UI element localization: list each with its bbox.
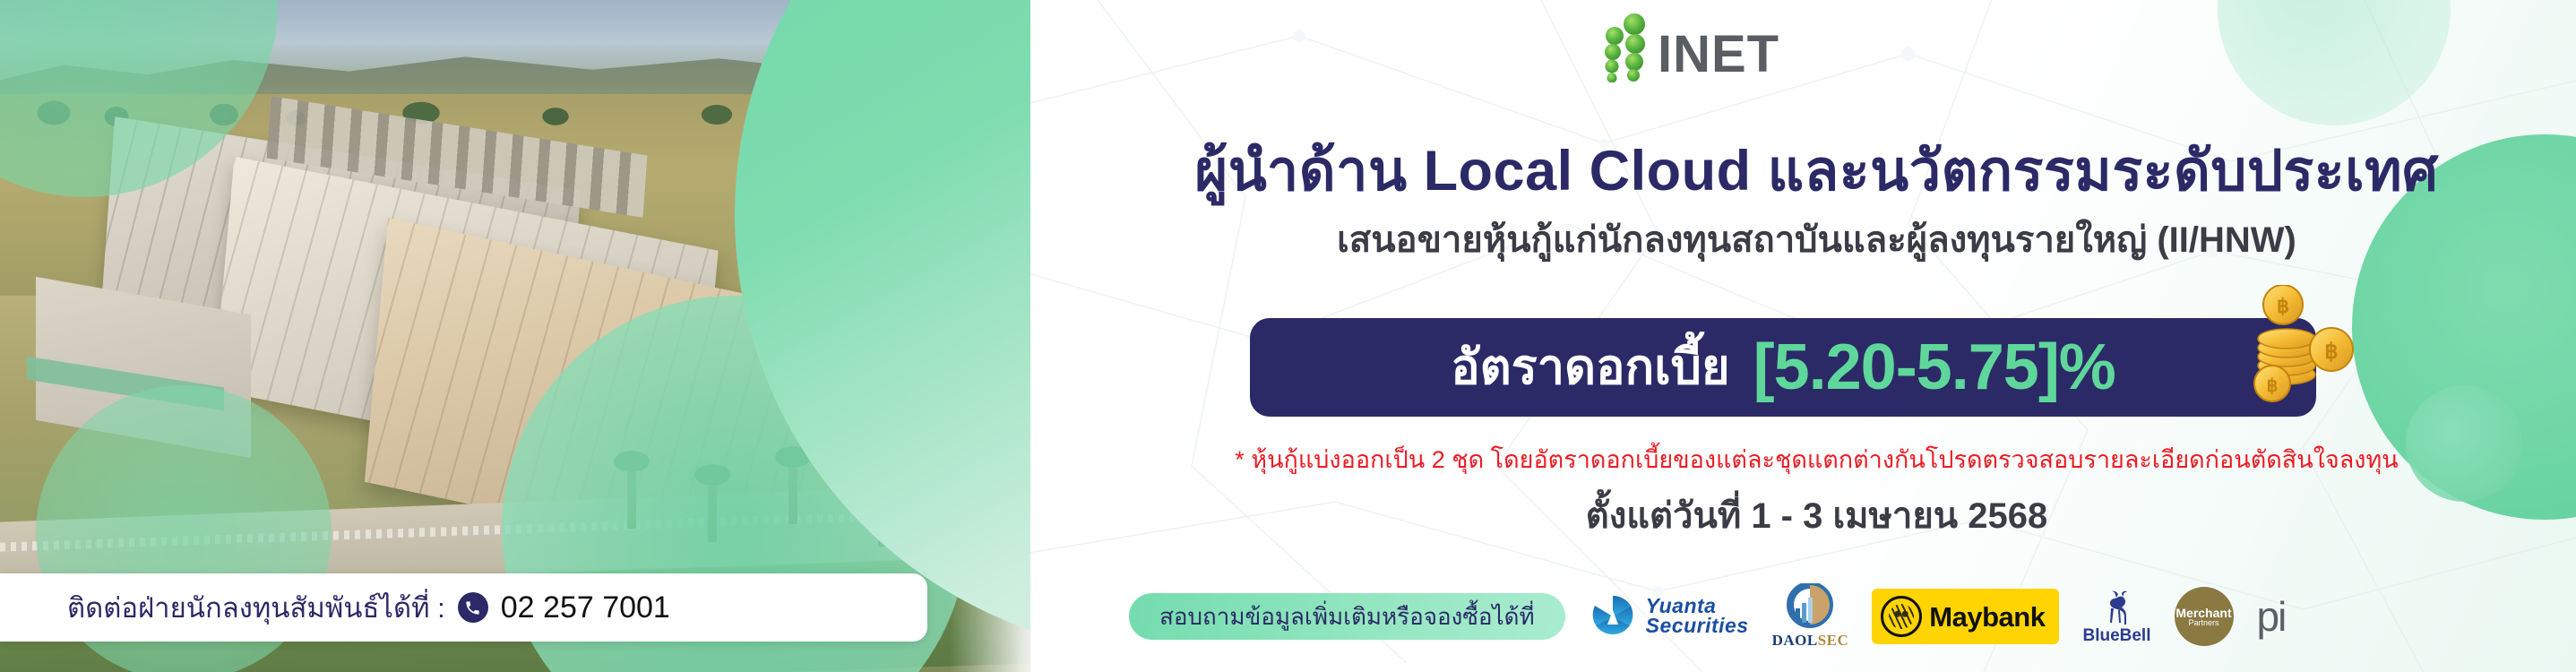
- investor-relations-contact: ติดต่อฝ่ายนักลงทุนสัมพันธ์ได้ที่ : 02 25…: [0, 573, 927, 642]
- daol-wordmark: DAOLSEC: [1772, 632, 1849, 650]
- interest-rate-value: [5.20-5.75]%: [1753, 335, 2115, 400]
- cta-and-partners-row: สอบถามข้อมูลเพิ่มเติมหรือจองซื้อได้ที่: [1129, 581, 2563, 652]
- inet-dots-icon: [1595, 13, 1652, 82]
- photo-palm-tree: [878, 484, 887, 547]
- disclaimer-text: * หุ้นกู้แบ่งออกเป็น 2 ชุด โดยอัตราดอกเบ…: [1057, 448, 2576, 472]
- contact-label: ติดต่อฝ่ายนักลงทุนสัมพันธ์ได้ที่ :: [67, 594, 445, 622]
- partner-logo-daol[interactable]: DAOLSEC: [1772, 583, 1849, 650]
- yuanta-line2: Securities: [1646, 616, 1749, 636]
- interest-rate-box: อัตราดอกเบี้ย [5.20-5.75]%: [1250, 318, 2316, 417]
- merchant-circle-icon: Merchant Partners: [2175, 587, 2234, 646]
- promotional-banner: INET ผู้นำด้าน Local Cloud และนวัตกรรมระ…: [0, 0, 2576, 672]
- banner-content: INET ผู้นำด้าน Local Cloud และนวัตกรรมระ…: [1057, 0, 2576, 672]
- maybank-wordmark: Maybank: [1929, 603, 2045, 631]
- yuanta-star-icon: [1589, 592, 1637, 641]
- inet-logo[interactable]: INET: [1595, 13, 1779, 82]
- phone-icon: [458, 592, 488, 623]
- photo-palm-tree: [788, 461, 797, 524]
- partner-logo-merchant-partners[interactable]: Merchant Partners: [2175, 587, 2234, 646]
- inet-logo-text: INET: [1658, 29, 1779, 81]
- svg-text:฿: ฿: [2324, 340, 2338, 364]
- merchant-line1: Merchant: [2175, 607, 2231, 619]
- photo-palm-tree: [627, 466, 636, 529]
- offer-dates: ตั้งแต่วันที่ 1 - 3 เมษายน 2568: [1057, 498, 2576, 534]
- daol-text-main: DAOL: [1772, 632, 1818, 649]
- partner-logo-pi[interactable]: pi: [2257, 596, 2286, 637]
- maybank-tiger-icon: [1881, 596, 1922, 637]
- interest-rate-label: อัตราดอกเบี้ย: [1451, 343, 1729, 392]
- merchant-line2: Partners: [2188, 619, 2218, 627]
- yuanta-wordmark: Yuanta Securities: [1646, 597, 1749, 636]
- svg-text:฿: ฿: [2267, 376, 2279, 396]
- contact-cta-button[interactable]: สอบถามข้อมูลเพิ่มเติมหรือจองซื้อได้ที่: [1129, 593, 1565, 640]
- partner-logo-bluebell[interactable]: BlueBell: [2082, 589, 2150, 644]
- datacenter-photo: [0, 0, 1057, 672]
- partner-logo-yuanta[interactable]: Yuanta Securities: [1589, 592, 1749, 641]
- phone-glyph: [464, 599, 481, 616]
- contact-phone-number: 02 257 7001: [501, 592, 670, 623]
- gold-coins-icon: ฿ ฿ ฿: [2231, 285, 2365, 410]
- page-subtitle: เสนอขายหุ้นกู้แก่นักลงทุนสถาบันและผู้ลงท…: [1057, 222, 2576, 258]
- photo-palm-tree: [708, 479, 717, 542]
- daol-circle-icon: [1785, 583, 1835, 630]
- bluebell-deer-icon: [2098, 589, 2134, 626]
- pi-logo-icon: pi: [2257, 596, 2286, 637]
- page-title: ผู้นำด้าน Local Cloud และนวัตกรรมระดับปร…: [1057, 143, 2576, 200]
- partner-logo-maybank[interactable]: Maybank: [1872, 589, 2059, 644]
- daol-text-sub: SEC: [1818, 632, 1849, 649]
- svg-text:฿: ฿: [2277, 295, 2289, 317]
- bluebell-wordmark: BlueBell: [2082, 627, 2150, 644]
